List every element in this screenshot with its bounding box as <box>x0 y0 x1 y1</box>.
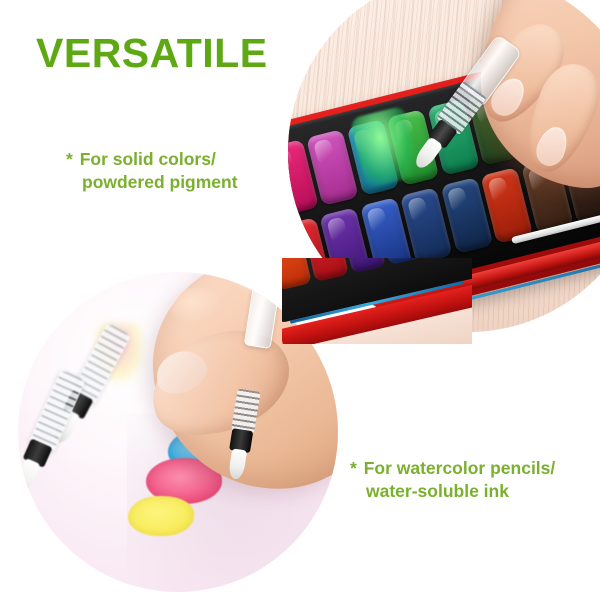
swatch-yellow <box>128 496 194 536</box>
fingernail <box>532 123 572 170</box>
bullet-asterisk: * <box>66 149 75 169</box>
caption-line: powdered pigment <box>66 171 238 194</box>
bullet-asterisk: * <box>350 458 359 478</box>
pen-grip-rings <box>231 388 260 433</box>
tin-corner-sliver <box>282 258 472 344</box>
page-title: VERSATILE <box>36 33 268 74</box>
caption-text: For solid colors/ <box>80 149 216 169</box>
caption-watercolor-pencils: * For watercolor pencils/ water-soluble … <box>350 457 555 503</box>
caption-solid-colors: * For solid colors/ powdered pigment <box>66 148 238 194</box>
infographic-canvas: VERSATILE <box>0 0 600 600</box>
caption-text: For watercolor pencils/ <box>364 458 556 478</box>
tin-corner-inner <box>282 258 472 344</box>
caption-line: water-soluble ink <box>350 480 555 503</box>
caption-line: * For solid colors/ <box>66 148 238 171</box>
pen-brush-tip <box>228 448 248 480</box>
caption-line: * For watercolor pencils/ <box>350 457 555 480</box>
